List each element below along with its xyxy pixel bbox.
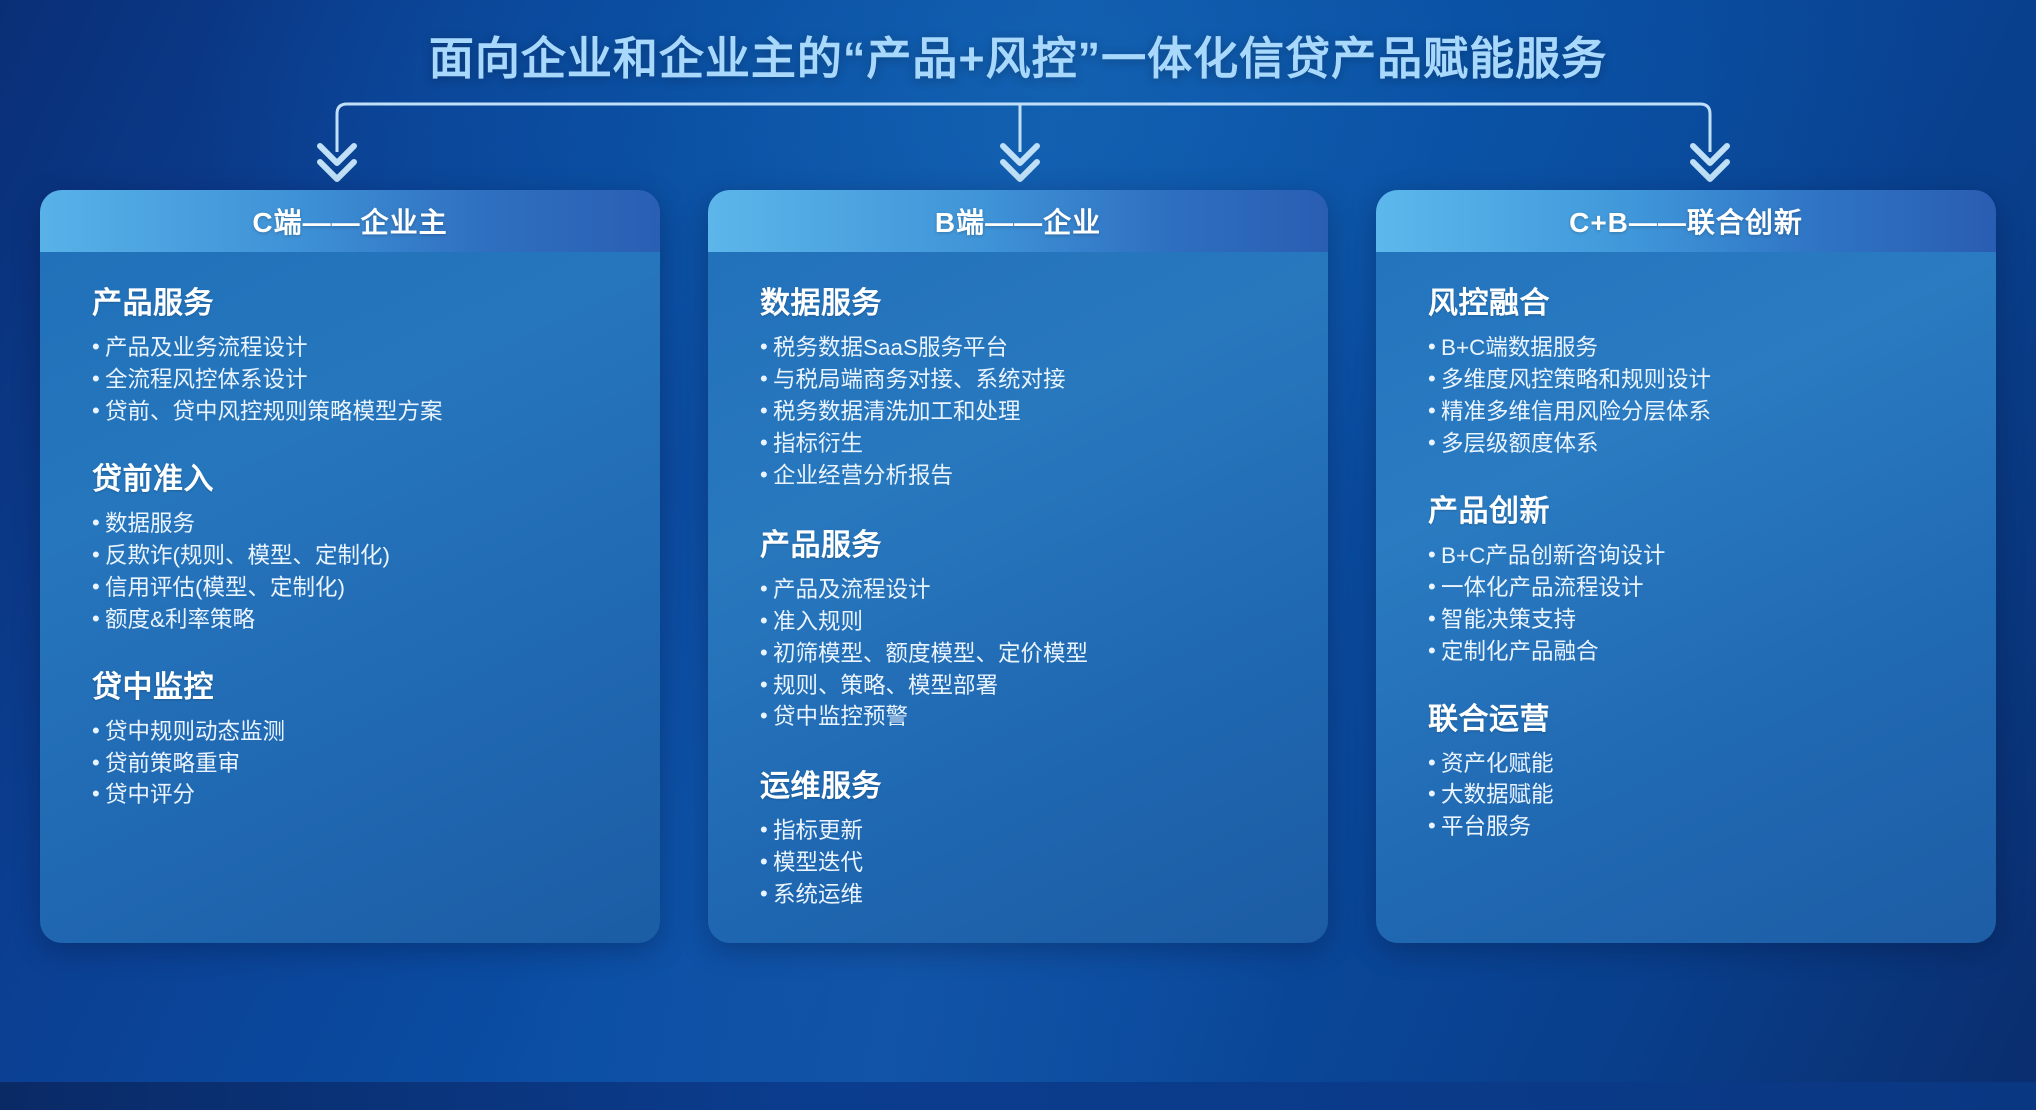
section-title: 联合运营 bbox=[1428, 694, 1996, 738]
list-item: 产品及业务流程设计 bbox=[92, 332, 660, 364]
list-item: 税务数据清洗加工和处理 bbox=[760, 396, 1328, 428]
bullet-list: 指标更新 模型迭代 系统运维 bbox=[760, 815, 1328, 911]
list-item: 定制化产品融合 bbox=[1428, 636, 1996, 668]
list-item: 初筛模型、额度模型、定价模型 bbox=[760, 638, 1328, 670]
list-item: 税务数据SaaS服务平台 bbox=[760, 332, 1328, 364]
bullet-list: 产品及业务流程设计 全流程风控体系设计 贷前、贷中风控规则策略模型方案 bbox=[92, 332, 660, 428]
section-title: 数据服务 bbox=[760, 278, 1328, 322]
list-item: 贷前、贷中风控规则策略模型方案 bbox=[92, 396, 660, 428]
list-item: 贷中规则动态监测 bbox=[92, 716, 660, 748]
bullet-list: 资产化赋能 大数据赋能 平台服务 bbox=[1428, 748, 1996, 844]
list-item: 贷前策略重审 bbox=[92, 748, 660, 780]
card-c-end[interactable]: C端——企业主 产品服务 产品及业务流程设计 全流程风控体系设计 贷前、贷中风控… bbox=[40, 190, 660, 943]
list-item: 全流程风控体系设计 bbox=[92, 364, 660, 396]
list-item: 多层级额度体系 bbox=[1428, 428, 1996, 460]
section-in-loan-monitoring: 贷中监控 贷中规则动态监测 贷前策略重审 贷中评分 bbox=[40, 662, 660, 812]
card-body-c-end: 产品服务 产品及业务流程设计 全流程风控体系设计 贷前、贷中风控规则策略模型方案… bbox=[40, 252, 660, 943]
list-item: 准入规则 bbox=[760, 606, 1328, 638]
list-item: 指标更新 bbox=[760, 815, 1328, 847]
double-chevron-down-icon bbox=[1693, 128, 1727, 179]
list-item: 贷中评分 bbox=[92, 779, 660, 811]
section-title: 产品服务 bbox=[92, 278, 660, 322]
section-title: 产品创新 bbox=[1428, 486, 1996, 530]
list-item: 一体化产品流程设计 bbox=[1428, 572, 1996, 604]
section-title: 产品服务 bbox=[760, 520, 1328, 564]
card-b-end[interactable]: B端——企业 数据服务 税务数据SaaS服务平台 与税局端商务对接、系统对接 税… bbox=[708, 190, 1328, 943]
list-item: 信用评估(模型、定制化) bbox=[92, 572, 660, 604]
section-pre-loan-admission: 贷前准入 数据服务 反欺诈(规则、模型、定制化) 信用评估(模型、定制化) 额度… bbox=[40, 454, 660, 636]
section-product-service: 产品服务 产品及流程设计 准入规则 初筛模型、额度模型、定价模型 规则、策略、模… bbox=[708, 520, 1328, 734]
section-title: 风控融合 bbox=[1428, 278, 1996, 322]
list-item: 多维度风控策略和规则设计 bbox=[1428, 364, 1996, 396]
list-item: 精准多维信用风险分层体系 bbox=[1428, 396, 1996, 428]
list-item: 数据服务 bbox=[92, 508, 660, 540]
page-title: 面向企业和企业主的“产品+风控”一体化信贷产品赋能服务 bbox=[429, 22, 1607, 87]
card-cb-joint[interactable]: C+B——联合创新 风控融合 B+C端数据服务 多维度风控策略和规则设计 精准多… bbox=[1376, 190, 1996, 943]
list-item: 企业经营分析报告 bbox=[760, 460, 1328, 492]
bullet-list: B+C产品创新咨询设计 一体化产品流程设计 智能决策支持 定制化产品融合 bbox=[1428, 540, 1996, 668]
section-ops-service: 运维服务 指标更新 模型迭代 系统运维 bbox=[708, 761, 1328, 911]
bullet-list: 贷中规则动态监测 贷前策略重审 贷中评分 bbox=[92, 716, 660, 812]
list-item: 与税局端商务对接、系统对接 bbox=[760, 364, 1328, 396]
bottom-strip bbox=[0, 1082, 2036, 1110]
list-item: 系统运维 bbox=[760, 879, 1328, 911]
section-joint-operation: 联合运营 资产化赋能 大数据赋能 平台服务 bbox=[1376, 694, 1996, 844]
list-item: 智能决策支持 bbox=[1428, 604, 1996, 636]
card-body-cb-joint: 风控融合 B+C端数据服务 多维度风控策略和规则设计 精准多维信用风险分层体系 … bbox=[1376, 252, 1996, 943]
section-title: 贷中监控 bbox=[92, 662, 660, 706]
section-title: 运维服务 bbox=[760, 761, 1328, 805]
list-item: 大数据赋能 bbox=[1428, 779, 1996, 811]
list-item: 规则、策略、模型部署 bbox=[760, 670, 1328, 702]
card-header-cb-joint: C+B——联合创新 bbox=[1376, 190, 1996, 252]
bullet-list: 数据服务 反欺诈(规则、模型、定制化) 信用评估(模型、定制化) 额度&利率策略 bbox=[92, 508, 660, 636]
column-container: C端——企业主 产品服务 产品及业务流程设计 全流程风控体系设计 贷前、贷中风控… bbox=[40, 190, 1996, 943]
bullet-list: 产品及流程设计 准入规则 初筛模型、额度模型、定价模型 规则、策略、模型部署 贷… bbox=[760, 574, 1328, 734]
section-product-service: 产品服务 产品及业务流程设计 全流程风控体系设计 贷前、贷中风控规则策略模型方案 bbox=[40, 278, 660, 428]
list-item: 产品及流程设计 bbox=[760, 574, 1328, 606]
card-body-b-end: 数据服务 税务数据SaaS服务平台 与税局端商务对接、系统对接 税务数据清洗加工… bbox=[708, 252, 1328, 943]
double-chevron-down-icon bbox=[1003, 128, 1037, 179]
section-data-service: 数据服务 税务数据SaaS服务平台 与税局端商务对接、系统对接 税务数据清洗加工… bbox=[708, 278, 1328, 492]
bullet-list: 税务数据SaaS服务平台 与税局端商务对接、系统对接 税务数据清洗加工和处理 指… bbox=[760, 332, 1328, 492]
list-item: 额度&利率策略 bbox=[92, 604, 660, 636]
list-item: 平台服务 bbox=[1428, 811, 1996, 843]
section-title: 贷前准入 bbox=[92, 454, 660, 498]
list-item: B+C端数据服务 bbox=[1428, 332, 1996, 364]
list-item: B+C产品创新咨询设计 bbox=[1428, 540, 1996, 572]
bullet-list: B+C端数据服务 多维度风控策略和规则设计 精准多维信用风险分层体系 多层级额度… bbox=[1428, 332, 1996, 460]
double-chevron-down-icon bbox=[320, 128, 354, 179]
section-risk-fusion: 风控融合 B+C端数据服务 多维度风控策略和规则设计 精准多维信用风险分层体系 … bbox=[1376, 278, 1996, 460]
list-item: 资产化赋能 bbox=[1428, 748, 1996, 780]
card-header-b-end: B端——企业 bbox=[708, 190, 1328, 252]
list-item: 模型迭代 bbox=[760, 847, 1328, 879]
card-header-c-end: C端——企业主 bbox=[40, 190, 660, 252]
list-item: 反欺诈(规则、模型、定制化) bbox=[92, 540, 660, 572]
list-item: 指标衍生 bbox=[760, 428, 1328, 460]
connector-lines bbox=[0, 100, 2036, 200]
page-title-container: 面向企业和企业主的“产品+风控”一体化信贷产品赋能服务 bbox=[0, 22, 2036, 87]
list-item: 贷中监控预警 bbox=[760, 701, 1328, 733]
section-product-innovation: 产品创新 B+C产品创新咨询设计 一体化产品流程设计 智能决策支持 定制化产品融… bbox=[1376, 486, 1996, 668]
